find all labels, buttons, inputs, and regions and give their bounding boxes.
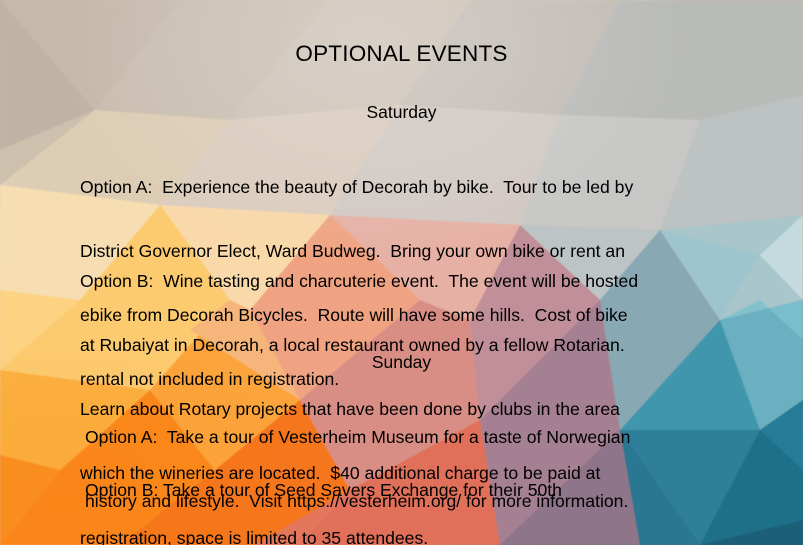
day-heading-saturday: Saturday — [0, 101, 803, 123]
optional-events-slide: OPTIONAL EVENTS Saturday Option A: Exper… — [0, 0, 803, 545]
slide-content: OPTIONAL EVENTS Saturday Option A: Exper… — [0, 0, 803, 545]
page-title: OPTIONAL EVENTS — [0, 41, 803, 67]
day-heading-sunday: Sunday — [0, 351, 803, 373]
text-line: Option B: Take a tour of Seed Savers Exc… — [85, 480, 562, 501]
text-line: Option A: Experience the beauty of Decor… — [80, 177, 633, 198]
text-line: Option B: Wine tasting and charcuterie e… — [80, 271, 638, 292]
sunday-option-b-paragraph: Option B: Take a tour of Seed Savers Exc… — [85, 437, 562, 545]
